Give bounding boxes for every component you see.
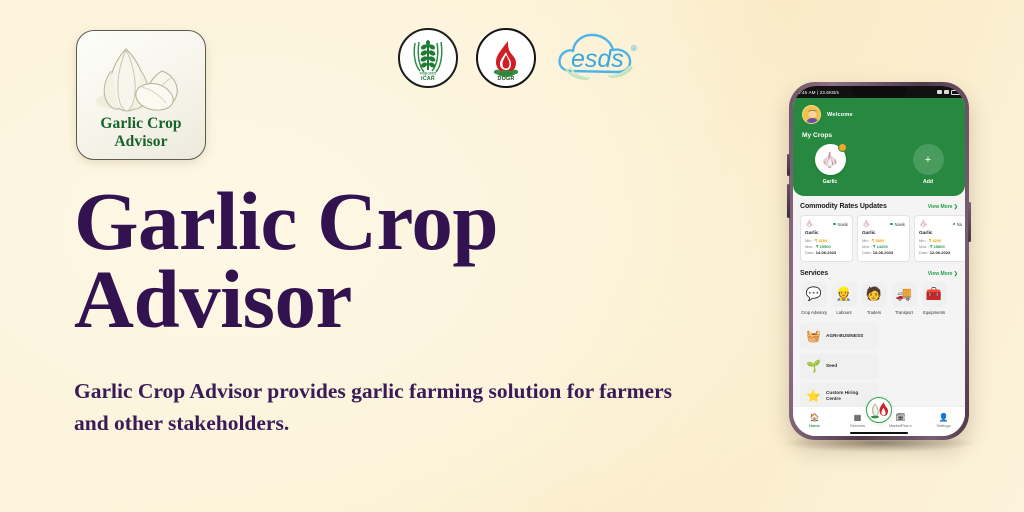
chat-icon: 💬 (802, 282, 827, 307)
market-city: Na (953, 222, 962, 227)
avatar[interactable] (802, 105, 821, 124)
service-label: Crop Advisory (801, 310, 827, 315)
commodity-card-list: 🧄 Nasik Garlic Min : ₹ 4200 Max : ₹ 1550… (800, 215, 958, 262)
garlic-emoji: 🧄 (862, 220, 871, 228)
services-section-header: Services View More ❯ (800, 270, 958, 277)
commodity-card-top: 🧄 Nasik (805, 220, 848, 228)
avatar-illustration (803, 106, 821, 124)
icar-logo-caption: भाकृअनुप ICAR (400, 71, 456, 82)
page-title: Garlic Crop Advisor (74, 182, 634, 338)
commodity-date: Date: 13-06-2023 (862, 250, 905, 256)
partner-logos: भाकृअनुप ICAR DOGR (398, 27, 646, 89)
tile-label: Custom Hiring Centre (826, 390, 872, 402)
grid-icon: ▦ (854, 414, 862, 422)
service-item-crop-advisory[interactable]: 💬 Crop Advisory (800, 282, 828, 315)
garlic-emoji: 🧄 (919, 220, 928, 228)
app-icon-card: Garlic Crop Advisor (76, 30, 206, 160)
commodity-view-more[interactable]: View More ❯ (928, 204, 958, 210)
garlic-emoji: 🧄 (805, 220, 814, 228)
commodity-date: Date: 12-06-2023 (919, 250, 962, 256)
esds-trademark: ® (631, 44, 637, 53)
commodity-name: Garlic (805, 231, 848, 236)
table-row[interactable]: 🧄 Na Garlic Min : ₹ 4200 Max : ₹ 15800 D… (914, 215, 965, 262)
garlic-emoji: 🧄 (821, 151, 840, 169)
home-icon: 🏠 (810, 414, 820, 422)
nav-label: Home (809, 424, 820, 429)
add-crop-button[interactable]: + Add (903, 144, 953, 185)
market-city: Nasik (890, 222, 905, 227)
commodity-date: Date: 14-06-2023 (805, 250, 848, 256)
tile-seed[interactable]: 🌱 Seed (800, 353, 878, 379)
nav-label: Services (850, 424, 865, 429)
dogr-text: DOGR (498, 76, 515, 82)
esds-logo: esds ® (554, 27, 646, 89)
signal-icon (944, 90, 949, 94)
tile-label: AGRI-BUSINESS (826, 333, 863, 339)
services-view-more[interactable]: View More ❯ (928, 271, 958, 277)
crop-status-dot (838, 143, 847, 152)
my-crops-title: My Crops (802, 132, 956, 139)
commodity-card-top: 🧄 Na (919, 220, 962, 228)
commodity-name: Garlic (919, 231, 962, 236)
nav-label: MarketPlac e (889, 424, 912, 429)
esds-wordmark: esds (571, 45, 624, 73)
status-bar-left: 9:46 AM | 23.6KB/s (798, 90, 839, 95)
phone-screen: 9:46 AM | 23.6KB/s Welcome M (793, 86, 965, 436)
service-item-equipments[interactable]: 🧰 Equipments (920, 282, 948, 315)
icar-text: ICAR (421, 76, 435, 82)
commodity-card-top: 🧄 Nasik (862, 220, 905, 228)
page-subtitle: Garlic Crop Advisor provides garlic farm… (74, 375, 704, 440)
dogr-flame-icon (483, 35, 529, 81)
basket-icon: 🧺 (806, 329, 821, 343)
home-indicator (850, 432, 908, 434)
commodity-title: Commodity Rates Updates (800, 203, 887, 210)
nav-item-marketplace[interactable]: 🗓 MarketPlac e (887, 414, 915, 428)
dogr-logo: DOGR (476, 28, 536, 88)
page-title-line2: Advisor (74, 260, 634, 338)
garlic-icon: 🧄 (815, 144, 846, 175)
plus-icon: + (913, 144, 944, 175)
crop-item-label: Garlic (823, 179, 838, 185)
app-header: Welcome My Crops 🧄 Garlic + Add (793, 98, 965, 196)
person-icon: 🧑 (862, 282, 887, 307)
person-icon: 👤 (939, 414, 949, 422)
welcome-row: Welcome (802, 105, 956, 124)
alarm-icon (937, 90, 942, 94)
crop-item-garlic[interactable]: 🧄 Garlic (805, 144, 855, 185)
esds-cloud-icon: esds ® (554, 27, 646, 89)
garlic-illustration (86, 37, 196, 123)
service-label: Transport (895, 310, 913, 315)
seedling-icon: 🌱 (806, 359, 821, 373)
app-icon-label-line1: Garlic Crop (100, 115, 181, 132)
service-label: Labours (836, 310, 851, 315)
star-icon: ⭐ (806, 389, 821, 403)
quicklinks-grid: 🧺 AGRI-BUSINESS 🌱 Seed ⭐ Custom Hiring C… (800, 323, 958, 406)
services-title: Services (800, 270, 828, 277)
market-city: Nasik (833, 222, 848, 227)
truck-icon: 🚚 (892, 282, 917, 307)
dogr-garlic-center-icon (869, 401, 889, 419)
tile-agri-business[interactable]: 🧺 AGRI-BUSINESS (800, 323, 878, 349)
worker-icon: 👷 (832, 282, 857, 307)
tile-label: Seed (826, 363, 837, 369)
service-item-labours[interactable]: 👷 Labours (830, 282, 858, 315)
commodity-name: Garlic (862, 231, 905, 236)
welcome-label: Welcome (827, 112, 853, 118)
table-row[interactable]: 🧄 Nasik Garlic Min : ₹ 3500 Max : ₹ 1420… (857, 215, 910, 262)
bottom-navigation: 🏠 Home ▦ Services 🗓 MarketPlac e (793, 406, 965, 436)
calendar-icon: 🗓 (895, 414, 905, 422)
dogr-garlic-logo-button[interactable] (866, 397, 892, 423)
services-list: 💬 Crop Advisory 👷 Labours 🧑 Traders 🚚 Tr… (800, 282, 958, 315)
status-bar-right (937, 90, 960, 95)
service-item-transport[interactable]: 🚚 Transport (890, 282, 918, 315)
service-item-traders[interactable]: 🧑 Traders (860, 282, 888, 315)
service-label: Traders (867, 310, 881, 315)
toolbox-icon: 🧰 (922, 282, 947, 307)
nav-item-settings[interactable]: 👤 Settings (930, 414, 958, 428)
nav-label: Settings (936, 424, 950, 429)
dogr-logo-caption: DOGR (478, 76, 534, 82)
app-content: Commodity Rates Updates View More ❯ 🧄 Na… (793, 196, 965, 406)
service-label: Equipments (923, 310, 945, 315)
my-crops-row: 🧄 Garlic + Add (802, 144, 956, 185)
phone-notch (851, 86, 907, 97)
app-icon-label-line2: Advisor (114, 133, 167, 150)
icar-logo: भाकृअनुप ICAR (398, 28, 458, 88)
tile-custom-hiring-centre[interactable]: ⭐ Custom Hiring Centre (800, 383, 878, 406)
table-row[interactable]: 🧄 Nasik Garlic Min : ₹ 4200 Max : ₹ 1550… (800, 215, 853, 262)
battery-icon (951, 90, 960, 95)
phone-mockup: 9:46 AM | 23.6KB/s Welcome M (789, 82, 969, 440)
nav-item-home[interactable]: 🏠 Home (801, 414, 829, 428)
app-icon-label: Garlic Crop Advisor (77, 115, 205, 150)
add-crop-label: Add (923, 179, 933, 185)
commodity-section-header: Commodity Rates Updates View More ❯ (800, 203, 958, 210)
phone-power-button (968, 202, 971, 242)
